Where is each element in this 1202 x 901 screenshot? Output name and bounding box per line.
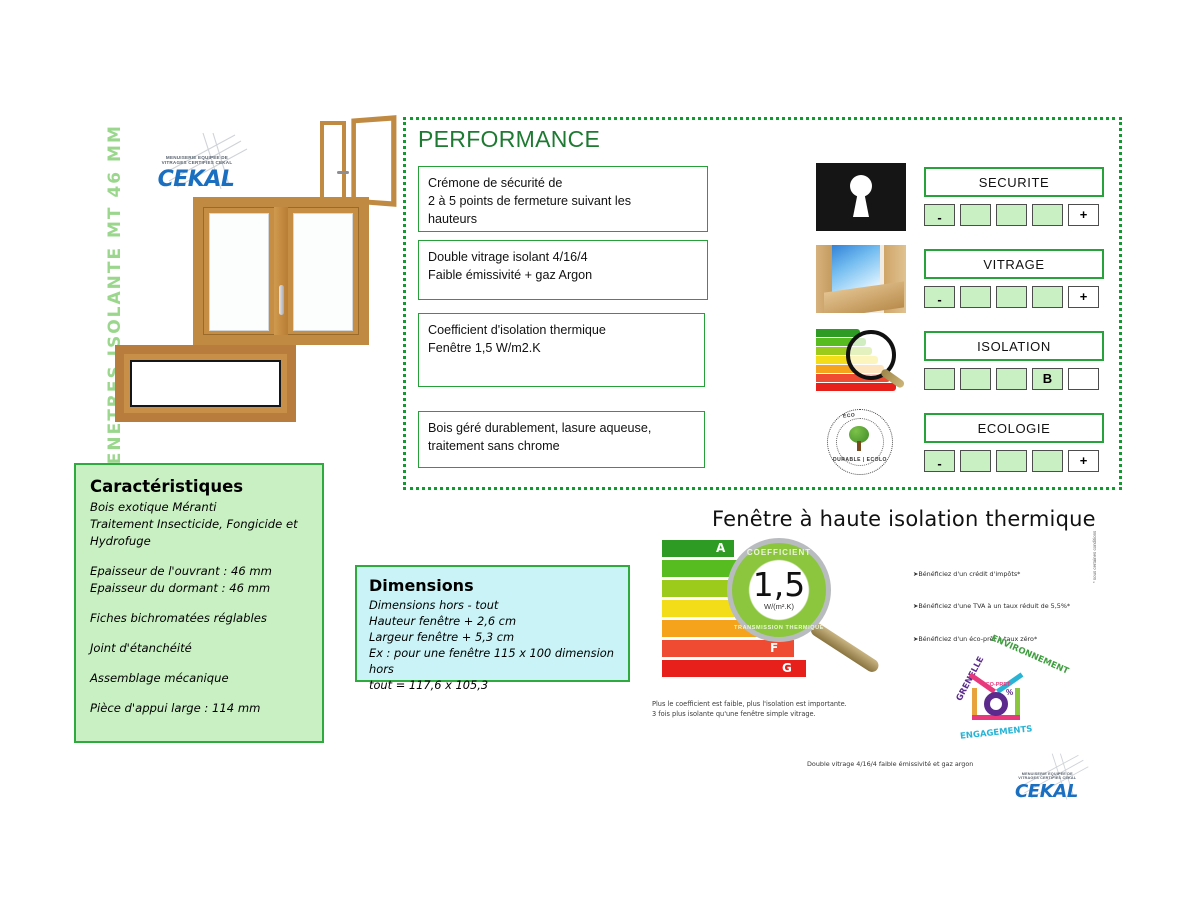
rating-label: ECOLOGIE <box>924 413 1104 443</box>
cekal-wordmark: CEKAL <box>149 167 243 192</box>
rating-row-securite: SECURITE - + <box>924 167 1104 226</box>
window-pane-right <box>293 213 353 331</box>
rating-box[interactable]: - <box>924 450 955 472</box>
dim-line: Ex : pour une fenêtre 115 x 100 dimensio… <box>369 645 616 677</box>
perf-line: Bois géré durablement, lasure aqueuse, <box>428 419 695 437</box>
rating-box[interactable] <box>924 368 955 390</box>
rating-box[interactable] <box>996 286 1027 308</box>
house-icon: ECO-PRET % <box>970 672 1022 720</box>
grenelle-word-3: ENGAGEMENTS <box>960 724 1033 742</box>
glazing-photo-icon <box>816 245 906 313</box>
cekal-wordmark: CEKAL <box>1008 782 1085 803</box>
rating-label: VITRAGE <box>924 249 1104 279</box>
perf-line: Faible émissivité + gaz Argon <box>428 266 698 284</box>
carac-line: Hydrofuge <box>90 533 308 550</box>
dim-line: tout = 117,6 x 105,3 <box>369 677 616 693</box>
dimensions-title: Dimensions <box>369 576 616 595</box>
rating-scale: - + <box>924 204 1104 226</box>
rating-scale: - + <box>924 450 1104 472</box>
rating-box[interactable] <box>1032 286 1063 308</box>
energy-grade-F: F <box>770 641 778 655</box>
rating-box[interactable] <box>960 286 991 308</box>
carac-line: Assemblage mécanique <box>90 670 308 687</box>
perf-line: hauteurs <box>428 210 698 228</box>
dimensions-panel: Dimensions Dimensions hors - tout Hauteu… <box>355 565 630 682</box>
keyhole-icon <box>816 163 906 231</box>
rating-box[interactable] <box>996 368 1027 390</box>
grenelle-environnement-logo: GRENELLE ENVIRONNEMENT ECO-PRET % ENGAGE… <box>944 648 1048 748</box>
thermal-title: Fenêtre à haute isolation thermique <box>712 507 1096 531</box>
perf-line: traitement sans chrome <box>428 437 695 455</box>
dim-line: Hauteur fenêtre + 2,6 cm <box>369 613 616 629</box>
perf-line: Double vitrage isolant 4/16/4 <box>428 248 698 266</box>
perf-line: 2 à 5 points de fermeture suivant les <box>428 192 698 210</box>
dim-line: Largeur fenêtre + 5,3 cm <box>369 629 616 645</box>
rating-box[interactable] <box>1032 204 1063 226</box>
poster-page: FENETRES ISOLANTE MT 46 MM MENUISERIE EQ… <box>0 0 1202 901</box>
carac-line: Pièce d'appui large : 114 mm <box>90 700 308 717</box>
benefit-bullet-2: ➤Bénéficiez d'une TVA à un taux réduit d… <box>913 602 1070 610</box>
performance-item-ecology: Bois géré durablement, lasure aqueuse, t… <box>418 411 705 468</box>
perf-line: Coefficient d'isolation thermique <box>428 321 695 339</box>
carac-line: Epaisseur de l'ouvrant : 46 mm <box>90 563 308 580</box>
caracteristiques-title: Caractéristiques <box>90 477 308 496</box>
carac-line: Fiches bichromatées réglables <box>90 610 308 627</box>
rating-box[interactable]: + <box>1068 286 1099 308</box>
performance-item-insulation: Coefficient d'isolation thermique Fenêtr… <box>418 313 705 387</box>
rating-row-isolation: ISOLATION B <box>924 331 1104 390</box>
vertical-product-title: FENETRES ISOLANTE MT 46 MM <box>105 121 131 481</box>
rating-scale: B <box>924 368 1104 390</box>
carac-line: Epaisseur du dormant : 46 mm <box>90 580 308 597</box>
eco-stamp-icon: ECO DURABLE | ECOLO <box>816 407 906 475</box>
rating-box[interactable] <box>1032 450 1063 472</box>
badge-arc-bottom: TRANSMISSION THERMIQUE <box>732 625 826 631</box>
energy-grade-G: G <box>782 661 792 675</box>
rating-box[interactable] <box>996 204 1027 226</box>
rating-box[interactable]: + <box>1068 450 1099 472</box>
cekal-subtitle: MENUISERIE EQUIPEE DEVITRAGES CERTIFIES … <box>1010 772 1085 781</box>
badge-arc-top: COEFFICIENT <box>732 548 826 557</box>
window-handle-icon <box>279 285 284 315</box>
note-line: Plus le coefficient est faible, plus l'i… <box>652 700 882 710</box>
perf-line: Fenêtre 1,5 W/m2.K <box>428 339 695 357</box>
window-handle-icon <box>337 171 349 174</box>
rating-label: SECURITE <box>924 167 1104 197</box>
rating-box[interactable] <box>960 450 991 472</box>
carac-line: Joint d'étanchéité <box>90 640 308 657</box>
conditions-sidenote: * sous certaines conditions <box>1092 487 1097 583</box>
carac-line: Bois exotique Méranti <box>90 499 308 516</box>
rating-box[interactable]: + <box>1068 204 1099 226</box>
perf-line: Crémone de sécurité de <box>428 174 698 192</box>
performance-item-glazing: Double vitrage isolant 4/16/4 Faible émi… <box>418 240 708 300</box>
double-window-photo <box>193 197 369 345</box>
window-pane-left <box>209 213 269 331</box>
benefit-bullet-1: ➤Bénéficiez d'un crédit d'impôts* <box>913 570 1020 578</box>
window-leaf-left <box>320 121 346 203</box>
benefit-bullet-3: ➤Bénéficiez d'un éco-prêt à taux zéro* <box>913 635 1037 643</box>
open-window-photo <box>320 121 390 206</box>
rating-label: ISOLATION <box>924 331 1104 361</box>
cekal-subtitle: MENUISERIE EQUIPEE DEVITRAGES CERTIFIES … <box>151 155 243 166</box>
rating-box[interactable]: - <box>924 286 955 308</box>
glazing-bottom-note: Double vitrage 4/16/4 faible émissivité … <box>807 760 973 768</box>
rating-row-vitrage: VITRAGE - + <box>924 249 1104 308</box>
rating-scale: - + <box>924 286 1104 308</box>
carac-line: Traitement Insecticide, Fongicide et <box>90 516 308 533</box>
percent-label: % <box>1006 688 1013 697</box>
performance-item-security: Crémone de sécurité de 2 à 5 points de f… <box>418 166 708 232</box>
rating-box[interactable]: - <box>924 204 955 226</box>
performance-title: PERFORMANCE <box>418 126 600 153</box>
dim-line: Dimensions hors - tout <box>369 597 616 613</box>
rating-box[interactable] <box>1068 368 1099 390</box>
rating-row-ecologie: ECOLOGIE - + <box>924 413 1104 472</box>
transom-window-photo <box>115 345 296 422</box>
energy-grade-A: A <box>716 541 725 555</box>
energy-label-note: Plus le coefficient est faible, plus l'i… <box>652 700 882 719</box>
window-leaf-open <box>351 115 396 207</box>
transom-glass <box>130 360 281 407</box>
rating-box[interactable] <box>960 368 991 390</box>
rating-box[interactable] <box>960 204 991 226</box>
caracteristiques-panel: Caractéristiques Bois exotique Méranti T… <box>74 463 324 743</box>
rating-box-selected[interactable]: B <box>1032 368 1063 390</box>
energy-magnifier-icon <box>816 325 906 393</box>
coefficient-value: 1,5 <box>753 570 805 600</box>
window-mullion <box>274 207 288 335</box>
eco-stamp-bottom-text: DURABLE | ECOLO <box>831 457 889 463</box>
note-line: 3 fois plus isolante qu'une fenêtre simp… <box>652 710 882 720</box>
rating-box[interactable] <box>996 450 1027 472</box>
coefficient-badge: COEFFICIENT 1,5 W/(m².K) TRANSMISSION TH… <box>727 538 831 642</box>
coefficient-unit: W/(m².K) <box>764 602 794 611</box>
eco-stamp-top-text: ECO <box>843 412 856 419</box>
